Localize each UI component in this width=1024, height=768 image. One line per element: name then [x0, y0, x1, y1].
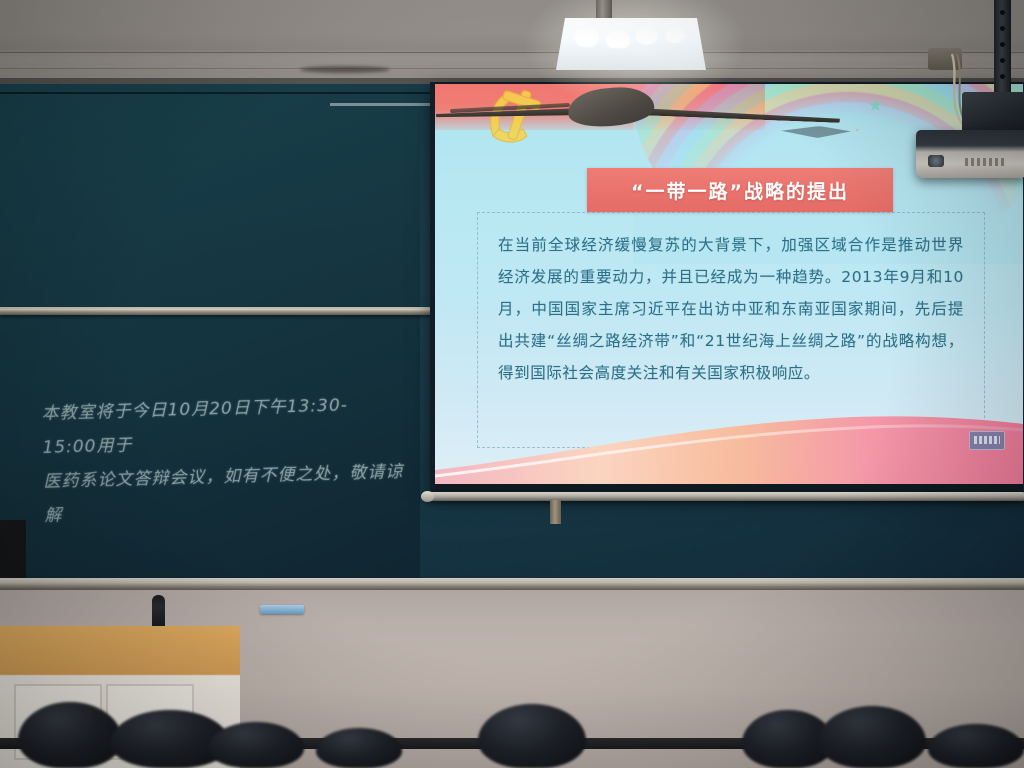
light-bulbs [566, 22, 696, 48]
audience-head [208, 722, 304, 768]
ceiling [0, 0, 1024, 80]
audience-head [316, 728, 402, 768]
projector-vent [965, 158, 1005, 166]
star-icon: ★ [868, 96, 883, 116]
ceiling-smudge [300, 66, 390, 73]
ceiling-seam [0, 68, 1024, 69]
blackboard-upper-rail [330, 103, 440, 106]
cable-wall-box [928, 48, 962, 70]
wall-speaker [0, 520, 26, 582]
slide-watermark-badge [969, 431, 1005, 450]
screen-pull-knob[interactable] [421, 491, 434, 502]
slide-body-text: 在当前全球经济缓慢复苏的大背景下，加强区域合作是推动世界经济发展的重要动力，并且… [498, 229, 964, 389]
screen-weight-bar[interactable] [424, 492, 1024, 501]
audience-head [818, 706, 926, 768]
hammer-and-sickle-emblem [463, 84, 583, 154]
board-eraser[interactable] [260, 605, 304, 614]
blackboard-left-panel [0, 84, 420, 584]
screen-strap [550, 500, 561, 524]
slide-title-banner: “一带一路”战略的提出 [587, 168, 893, 212]
lecture-hall-photo: 本教室将于今日10月20日下午13:30-15:00用于医药系论文答辩会议，如有… [0, 0, 1024, 768]
slide-title: “一带一路”战略的提出 [631, 177, 849, 204]
audience-head [928, 724, 1024, 768]
ceiling-projector [916, 130, 1024, 178]
slide-bottom-wave [435, 392, 1023, 484]
projector-lens [928, 155, 944, 167]
blackboard-top-edge [0, 92, 430, 94]
ceiling-seam [0, 52, 1024, 53]
projector-mounting-pole [994, 0, 1011, 95]
